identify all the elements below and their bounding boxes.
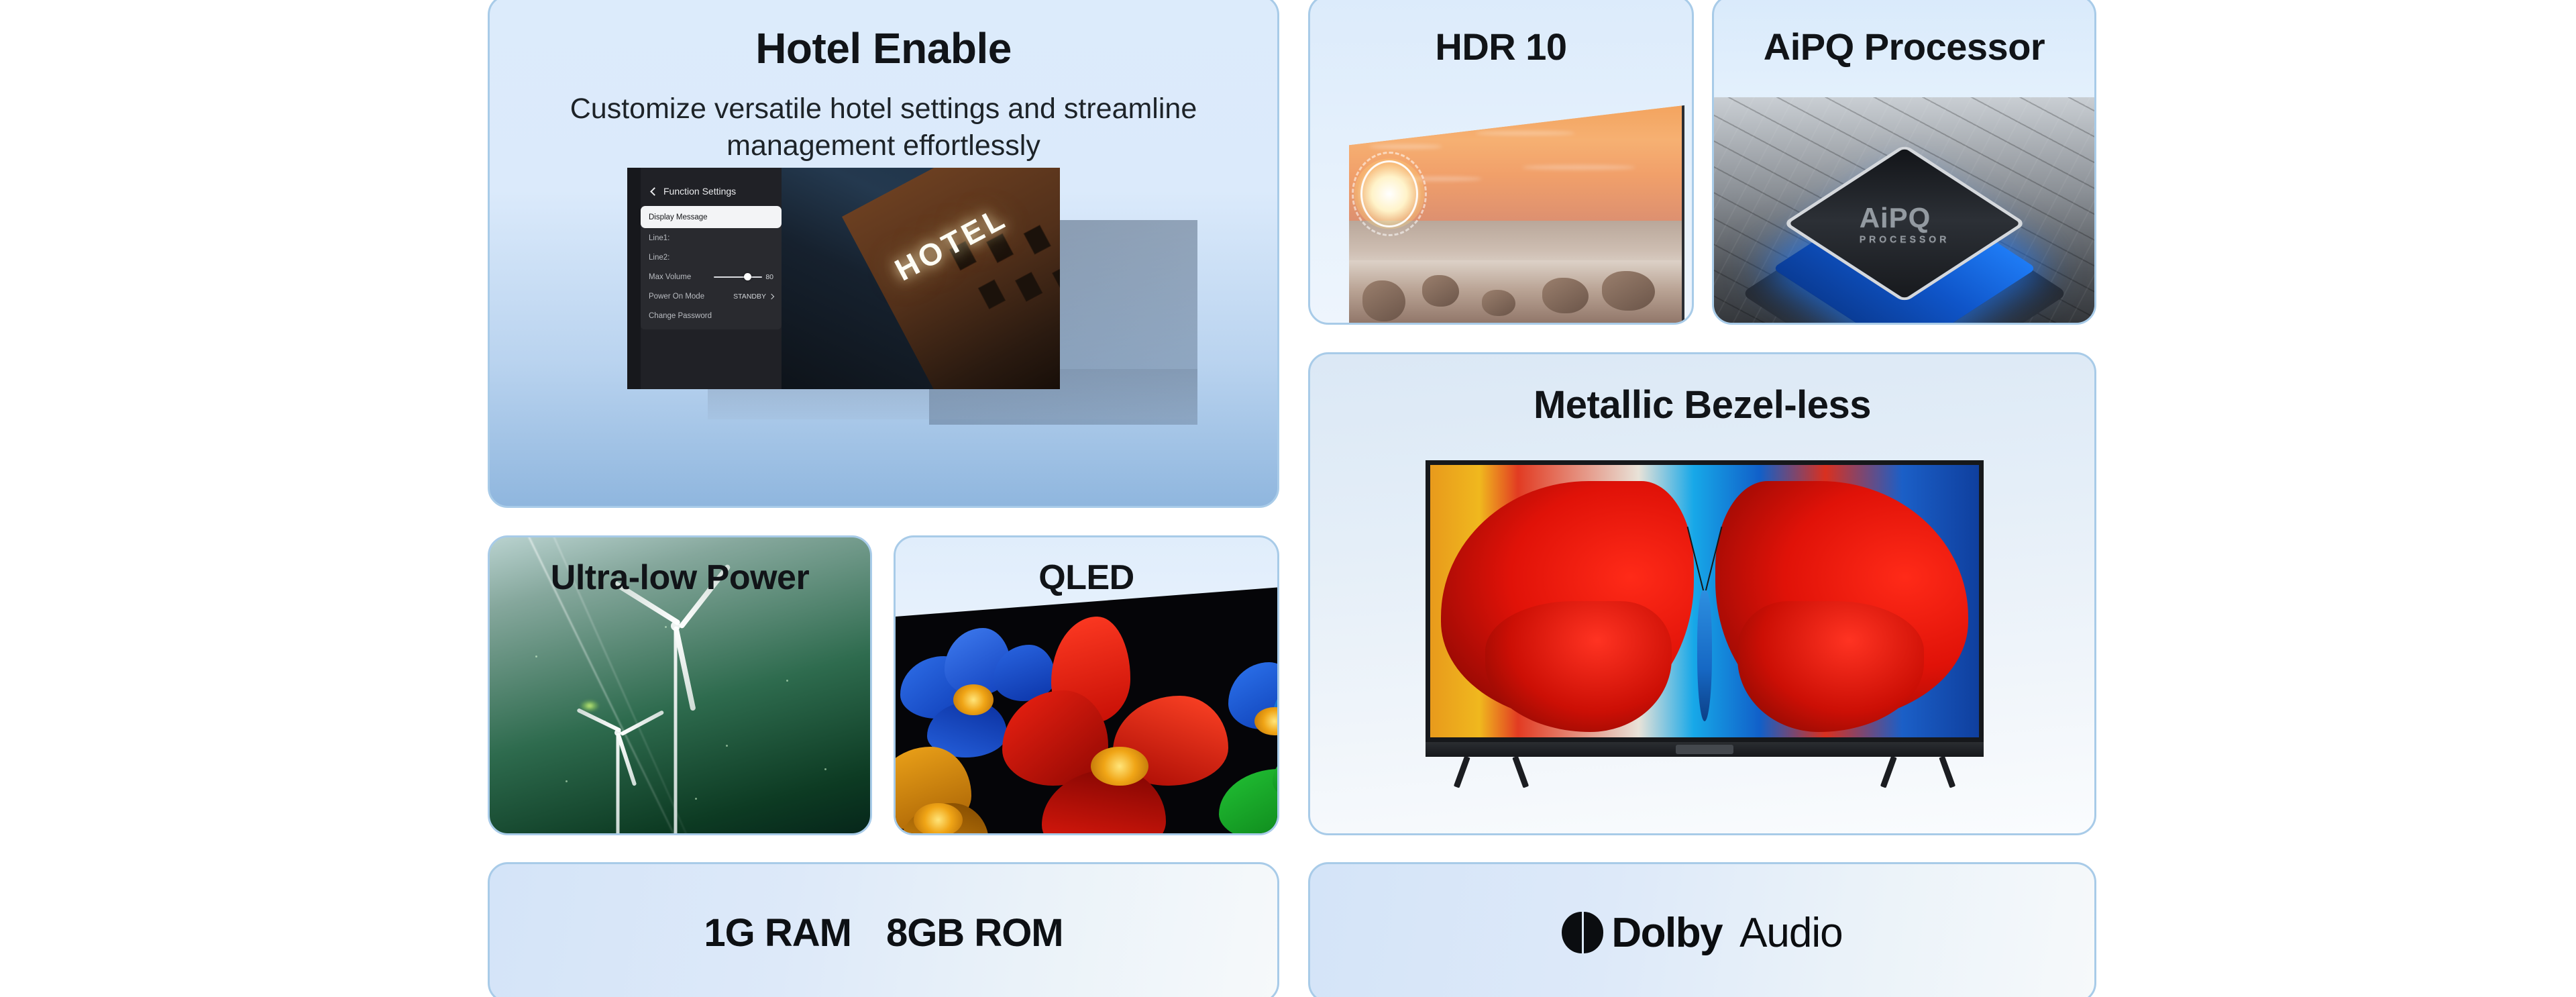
turbine-mast bbox=[616, 733, 620, 835]
wind-turbine-main bbox=[672, 626, 679, 833]
card-dolby-audio[interactable]: Dolby Audio bbox=[1308, 862, 2096, 997]
card-title-metallic-bezel-less: Metallic Bezel-less bbox=[1310, 382, 2094, 427]
chevron-left-icon[interactable] bbox=[650, 187, 659, 196]
beach-rocks bbox=[1349, 260, 1682, 325]
slider-track bbox=[714, 276, 762, 278]
dolby-product-text: Audio bbox=[1739, 909, 1843, 957]
menu-header-label: Function Settings bbox=[663, 186, 736, 197]
tv-stand-leg-left bbox=[1460, 757, 1522, 788]
hdr-tv-illustration bbox=[1349, 105, 1684, 325]
menu-list: Display Message Line1: Line2: Max Volume bbox=[641, 206, 782, 329]
card-title-ultra-low-power: Ultra-low Power bbox=[490, 558, 870, 598]
menu-item-line1[interactable]: Line1: bbox=[641, 228, 782, 248]
butterfly-body bbox=[1697, 590, 1712, 721]
menu-header[interactable]: Function Settings bbox=[641, 168, 782, 197]
chevron-right-icon[interactable] bbox=[769, 293, 774, 299]
qled-tv-panel bbox=[894, 583, 1279, 835]
function-settings-menu[interactable]: Function Settings Display Message Line1:… bbox=[641, 168, 782, 389]
card-aipq-processor[interactable]: AiPQ Processor AiPQ PROCESSOR bbox=[1712, 0, 2096, 325]
menu-item-label: Line2: bbox=[649, 254, 669, 262]
wind-turbine-secondary bbox=[615, 733, 621, 835]
menu-item-label: Max Volume bbox=[649, 273, 691, 281]
menu-item-label: Line1: bbox=[649, 234, 669, 242]
menu-item-line2[interactable]: Line2: bbox=[641, 248, 782, 267]
bezel-tv-illustration bbox=[1426, 460, 1984, 770]
card-title-qled: QLED bbox=[896, 558, 1277, 598]
card-title-hdr-10: HDR 10 bbox=[1310, 25, 1692, 68]
turbine-mast bbox=[674, 626, 678, 833]
tv-panel: HOTEL Function Settings Display Message … bbox=[627, 168, 1060, 389]
hotel-building bbox=[842, 168, 1060, 389]
slider-knob[interactable] bbox=[744, 273, 751, 280]
menu-item-label: Power On Mode bbox=[649, 293, 704, 301]
chip-label-sub: PROCESSOR bbox=[1859, 234, 1949, 245]
tv-photo-hotel-night: HOTEL bbox=[757, 168, 1061, 389]
light-glow-dot bbox=[581, 700, 598, 711]
turbine-blade bbox=[620, 710, 664, 736]
dolby-brand-text: Dolby bbox=[1611, 909, 1722, 957]
menu-item-label: Display Message bbox=[649, 213, 708, 221]
power-on-mode-value: STANDBY bbox=[733, 293, 766, 301]
hdr-focus-ring-inner bbox=[1360, 160, 1418, 227]
card-hdr-10[interactable]: HDR 10 bbox=[1308, 0, 1694, 325]
tv-brand-plate bbox=[1676, 745, 1733, 754]
dolby-double-d-icon bbox=[1562, 912, 1603, 953]
card-title-aipq-processor: AiPQ Processor bbox=[1714, 25, 2094, 68]
card-ultra-low-power[interactable]: Ultra-low Power bbox=[488, 535, 872, 835]
ram-label: 1G RAM bbox=[704, 910, 851, 955]
menu-item-power-on-mode[interactable]: Power On Mode STANDBY bbox=[641, 286, 782, 306]
menu-item-display-message[interactable]: Display Message bbox=[641, 206, 782, 228]
card-subtitle-hotel-enable: Customize versatile hotel settings and s… bbox=[557, 91, 1210, 164]
max-volume-value: 80 bbox=[765, 273, 773, 281]
hotel-tv-illustration: HOTEL Function Settings Display Message … bbox=[490, 168, 1277, 508]
power-on-mode-value-group[interactable]: STANDBY bbox=[733, 293, 773, 301]
menu-item-change-password[interactable]: Change Password bbox=[641, 306, 782, 325]
tv-screen bbox=[1426, 460, 1984, 742]
volume-slider[interactable] bbox=[714, 274, 762, 280]
max-volume-control[interactable]: 80 bbox=[714, 273, 773, 281]
feature-grid: Hotel Enable Customize versatile hotel s… bbox=[0, 0, 2576, 997]
card-metallic-bezel-less[interactable]: Metallic Bezel-less bbox=[1308, 352, 2096, 835]
card-hotel-enable[interactable]: Hotel Enable Customize versatile hotel s… bbox=[488, 0, 1279, 508]
tv-stand-leg-right bbox=[1887, 757, 1949, 788]
menu-item-label: Change Password bbox=[649, 312, 712, 320]
chip-label: AiPQ PROCESSOR bbox=[1859, 202, 1949, 245]
rom-label: 8GB ROM bbox=[886, 910, 1063, 955]
card-memory-spec[interactable]: 1G RAM 8GB ROM bbox=[488, 862, 1279, 997]
dolby-audio-logo: Dolby Audio bbox=[1562, 909, 1842, 957]
chip-label-main: AiPQ bbox=[1859, 202, 1931, 233]
menu-item-max-volume[interactable]: Max Volume 80 bbox=[641, 267, 782, 286]
card-qled[interactable]: QLED bbox=[894, 535, 1279, 835]
card-title-hotel-enable: Hotel Enable bbox=[490, 23, 1277, 73]
